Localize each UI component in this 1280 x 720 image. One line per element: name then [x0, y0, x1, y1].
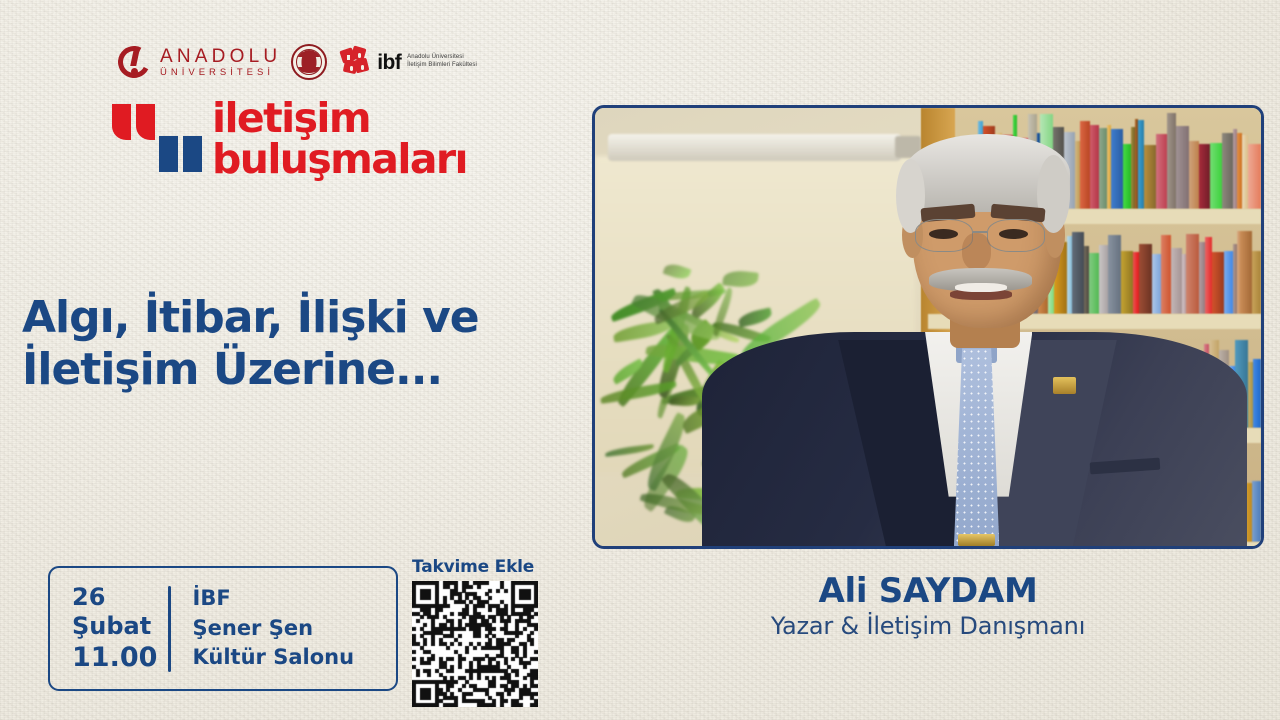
person-figure	[768, 134, 1181, 546]
event-day: 26	[72, 583, 168, 611]
university-name-line2: ÜNİVERSİTESİ	[160, 68, 281, 78]
qr-code-icon[interactable]	[412, 581, 538, 707]
event-venue: İBF Şener Şen Kültür Salonu	[171, 584, 355, 673]
venue-line2: Şener Şen	[193, 614, 355, 644]
faculty-sub-line1: Anadolu Üniversitesi	[407, 54, 477, 62]
anadolu-universitesi-wordmark: ANADOLU ÜNİVERSİTESİ	[160, 47, 281, 78]
event-poster: ANADOLU ÜNİVERSİTESİ ibf Anadolu Ünivers…	[0, 0, 1280, 720]
anadolu-universitesi-logo-icon	[118, 46, 150, 78]
event-details-box: 26 Şubat 11.00 İBF Şener Şen Kültür Salo…	[48, 566, 398, 691]
ibf-faculty-logo: ibf Anadolu Üniversitesi İletişim Biliml…	[341, 47, 477, 77]
brand-line2: buluşmaları	[212, 141, 467, 179]
speaker-photo	[592, 105, 1264, 549]
event-time: 11.00	[72, 642, 168, 674]
faculty-sub-line2: İletişim Bilimleri Fakültesi	[407, 62, 477, 70]
university-name-line1: ANADOLU	[160, 47, 281, 66]
speaker-role: Yazar & İletişim Danışmanı	[592, 612, 1264, 640]
ataturk-seal-icon	[291, 44, 327, 80]
add-to-calendar-label: Takvime Ekle	[412, 557, 540, 577]
add-to-calendar-block[interactable]: Takvime Ekle	[412, 557, 540, 712]
event-datetime: 26 Şubat 11.00	[50, 583, 168, 673]
event-title-line1: Algı, İtibar, İlişki ve	[22, 292, 479, 343]
close-quote-icon	[159, 136, 202, 172]
venue-line3: Kültür Salonu	[193, 643, 355, 673]
brand-lockup: iletişim buluşmaları	[112, 100, 467, 178]
ibf-abbreviation: ibf	[377, 52, 401, 73]
speaker-name: Ali SAYDAM	[592, 572, 1264, 610]
event-title-line2: İletişim Üzerine...	[22, 344, 582, 396]
ibf-faculty-subtitle: Anadolu Üniversitesi İletişim Bilimleri …	[407, 54, 477, 70]
speaker-caption: Ali SAYDAM Yazar & İletişim Danışmanı	[592, 572, 1264, 640]
event-month: Şubat	[72, 612, 168, 640]
logo-row: ANADOLU ÜNİVERSİTESİ ibf Anadolu Ünivers…	[118, 40, 477, 84]
brand-wordmark: iletişim buluşmaları	[212, 100, 467, 178]
quotation-marks	[112, 100, 202, 172]
ibf-logo-icon	[341, 47, 371, 77]
event-title: Algı, İtibar, İlişki ve İletişim Üzerine…	[22, 292, 582, 396]
venue-line1: İBF	[193, 584, 355, 614]
open-quote-icon	[112, 104, 155, 140]
